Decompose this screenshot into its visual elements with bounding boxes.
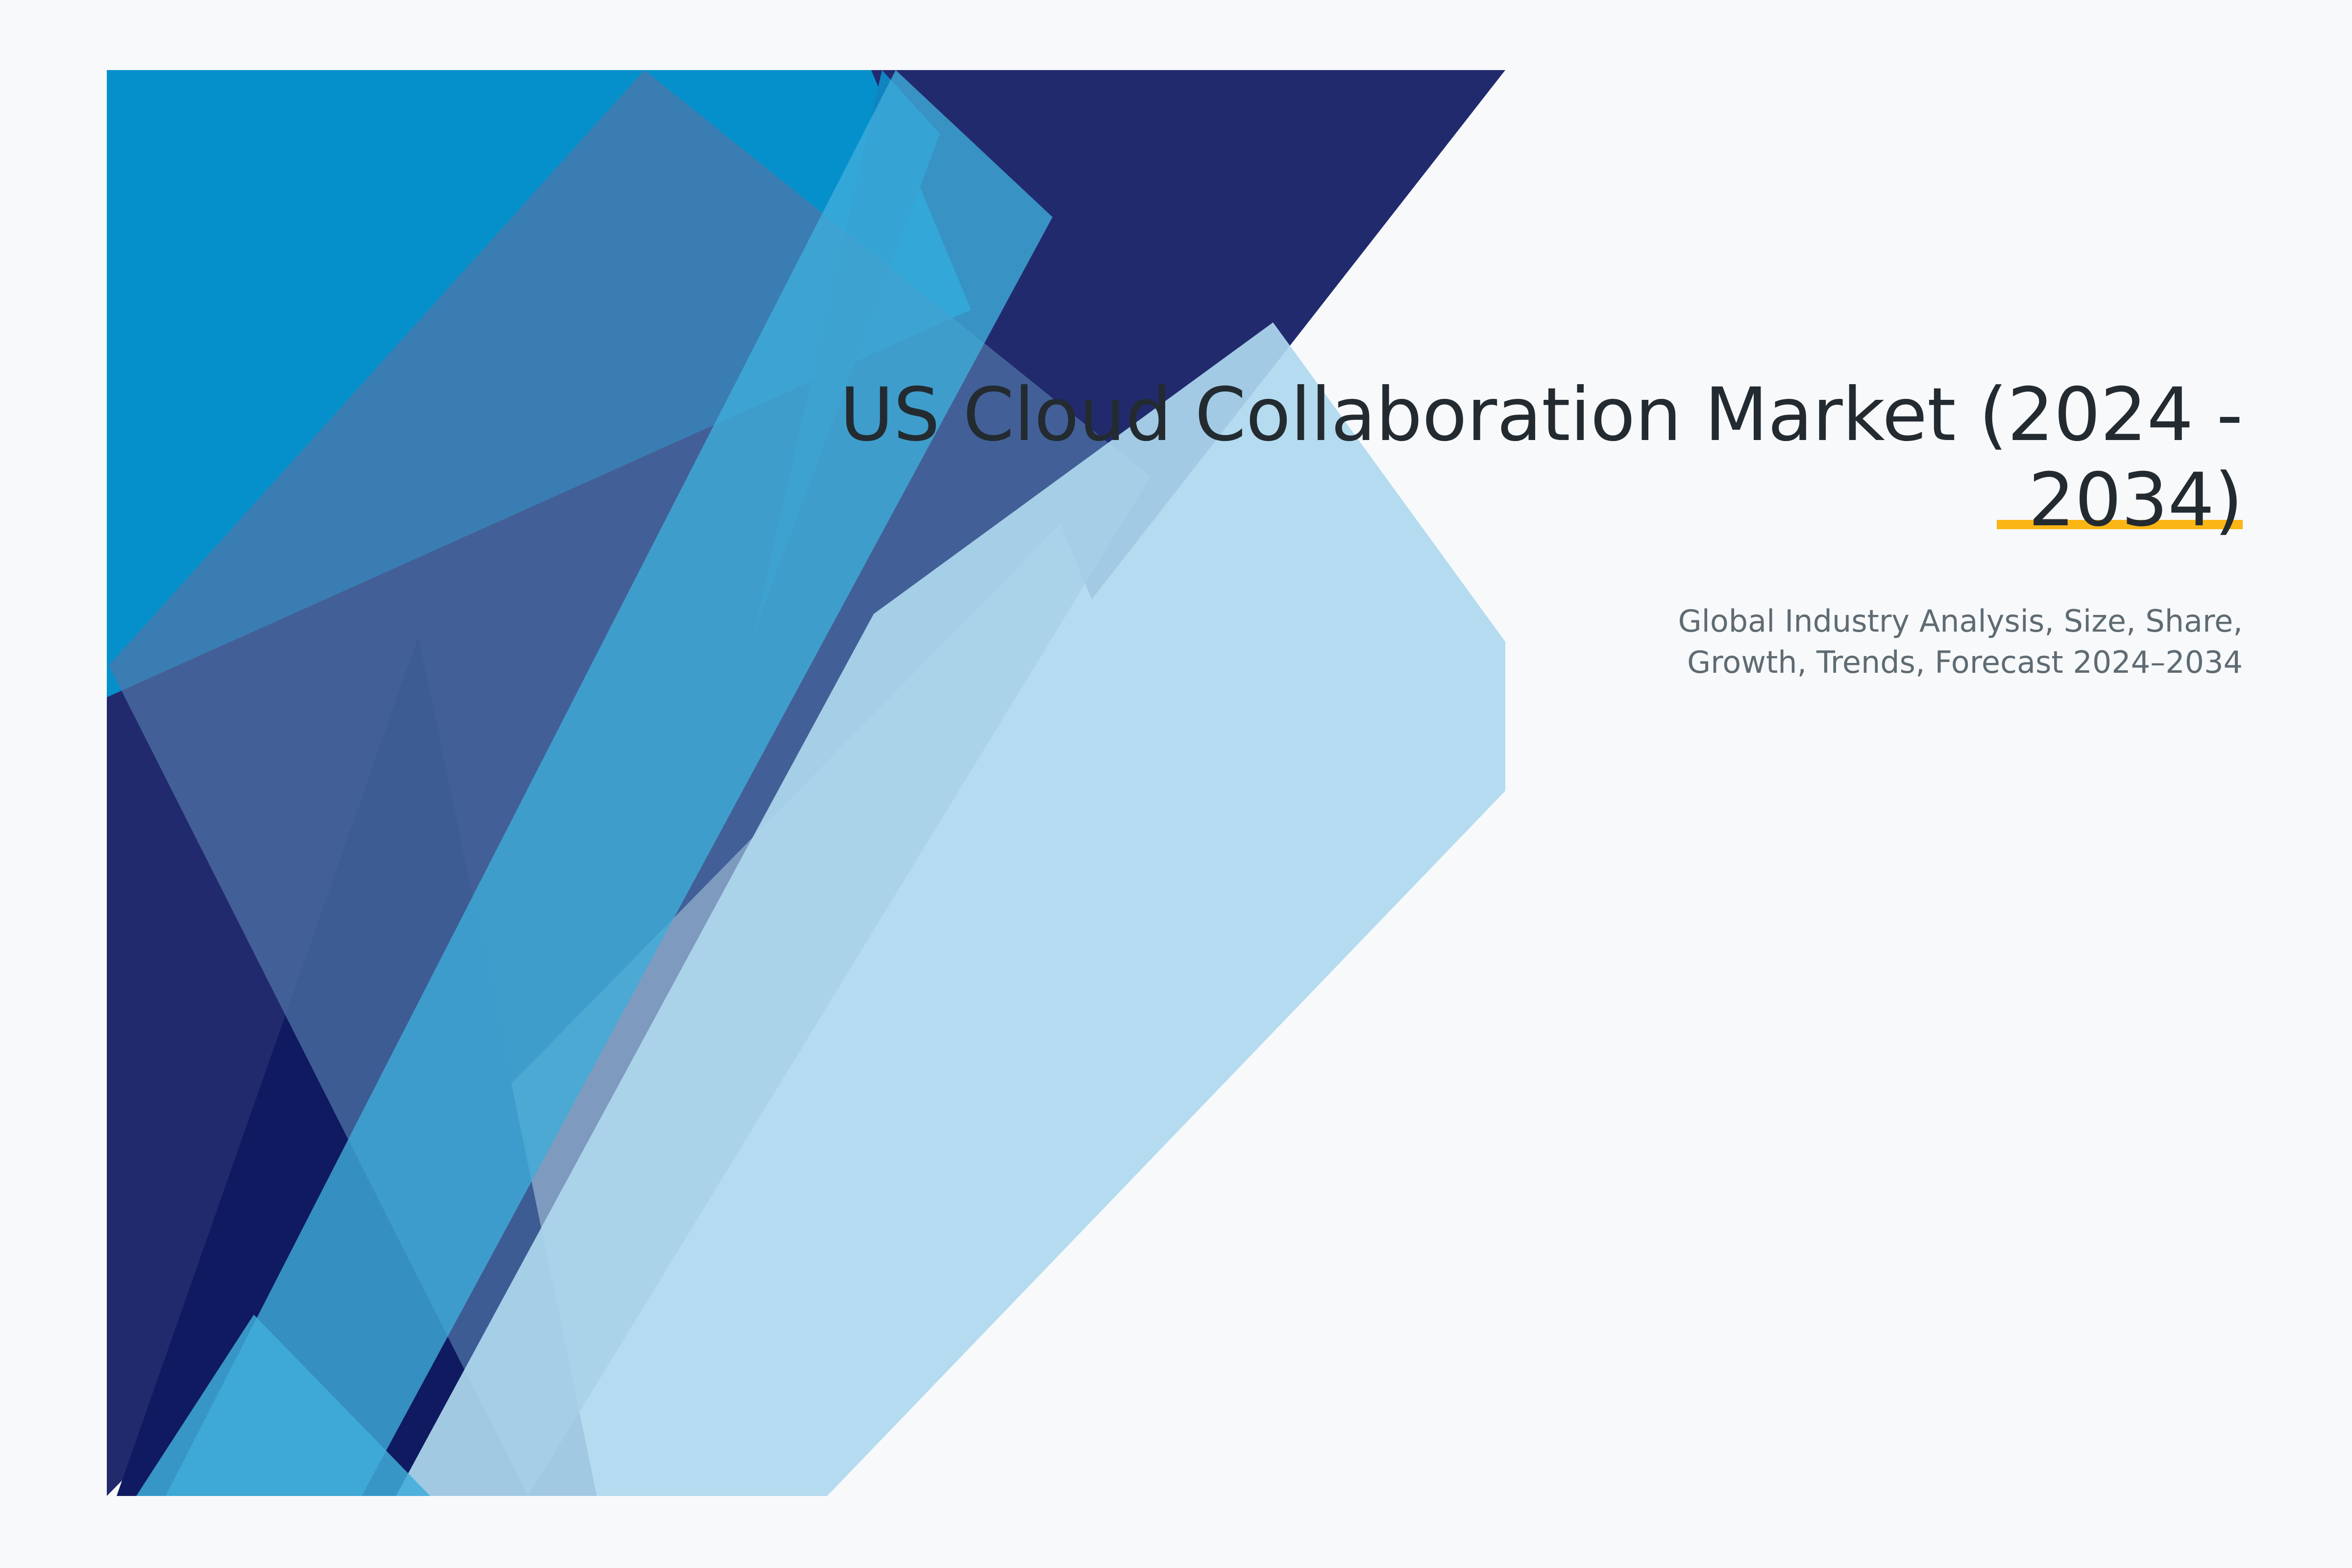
report-cover-page: US Cloud Collaboration Market (2024 - 20…	[0, 0, 2352, 1568]
cover-text-block: US Cloud Collaboration Market (2024 - 20…	[637, 372, 2243, 684]
page-title: US Cloud Collaboration Market (2024 - 20…	[637, 372, 2243, 543]
title-wrapper: US Cloud Collaboration Market (2024 - 20…	[637, 372, 2243, 543]
page-subtitle: Global Industry Analysis, Size, Share, G…	[637, 601, 2243, 684]
abstract-geometric-cover-graphic	[107, 70, 1505, 1496]
